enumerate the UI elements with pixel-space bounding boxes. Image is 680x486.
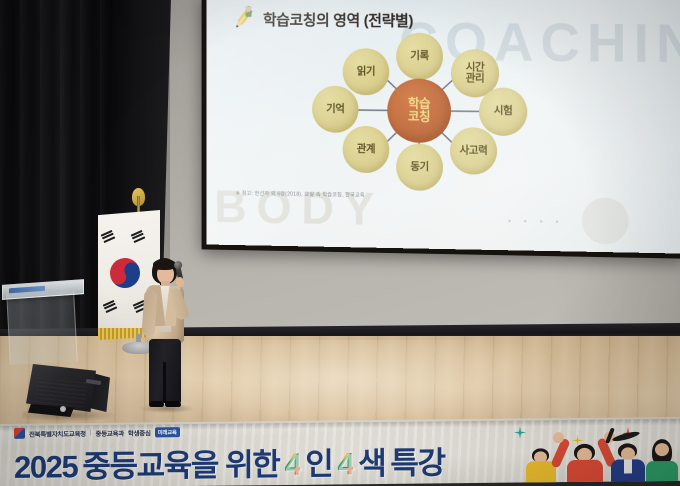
event-banner: 전북특별자치도교육청 | 중등교육과 학생중심 미래교육 2025 중등교육을 … (0, 417, 680, 486)
presenter-shoe-left (149, 401, 164, 407)
banner-title-saek: 색 (358, 438, 385, 483)
banner-logo-row: 전북특별자치도교육청 | 중등교육과 학생중심 미래교육 (14, 426, 180, 439)
slide: COACHING BODY • • • • (206, 0, 680, 254)
presenter (134, 258, 196, 410)
banner-title-four-b: 4 (337, 446, 353, 482)
node-donggi: 동기 (396, 143, 443, 191)
banner-logo-dept: 중등교육과 (96, 427, 124, 437)
banner-person-green (646, 439, 680, 483)
banner-logo-divider: | (90, 429, 92, 436)
banner-logo-chip-b: 미래교육 (155, 427, 180, 437)
trigram-gam (101, 230, 116, 243)
node-gieok: 기억 (312, 86, 358, 133)
acrylic-lectern (0, 282, 86, 366)
lecture-hall-photo: COACHING BODY • • • • (0, 0, 680, 486)
floor-monitor-speaker (26, 356, 118, 418)
presenter-shoe-right (165, 401, 181, 407)
trigram-geon (131, 230, 146, 243)
banner-title: 2025 중등교육을 위한 4 인 4 색 특강 (14, 437, 445, 486)
lectern-body (6, 291, 77, 365)
trigram-gon (103, 300, 118, 313)
banner-logo-org: 전북특별자치도교육청 (29, 428, 86, 439)
star-teal-icon (514, 426, 526, 438)
education-office-logo-icon (14, 428, 25, 439)
banner-logo-chip-a: 학생중심 (128, 427, 151, 437)
banner-illustration-people (510, 421, 678, 483)
node-gwangye: 관계 (343, 126, 390, 173)
projection-screen: COACHING BODY • • • • (206, 0, 680, 254)
node-giryok: 기록 (396, 33, 443, 80)
node-center-haksup-coaching: 학습 코칭 (387, 78, 451, 143)
banner-title-part1: 중등교육을 위한 (82, 439, 279, 486)
lectern-nameplate (9, 286, 45, 294)
center-line2: 코칭 (408, 111, 430, 124)
banner-title-four-a: 4 (284, 447, 300, 483)
monitor-led-icon (60, 406, 66, 412)
node-ilgi: 읽기 (343, 48, 390, 95)
banner-title-in: 인 (305, 439, 332, 484)
presenter-leg-split (163, 362, 166, 403)
banner-title-year: 2025 (14, 449, 77, 486)
node-siheom: 시험 (479, 87, 527, 136)
presenter-bangs (153, 259, 176, 270)
banner-title-part2: 특강 (390, 437, 444, 483)
node-sigan-gwalli-line2: 관리 (466, 73, 485, 84)
node-sagoryeok: 사고력 (450, 127, 497, 175)
